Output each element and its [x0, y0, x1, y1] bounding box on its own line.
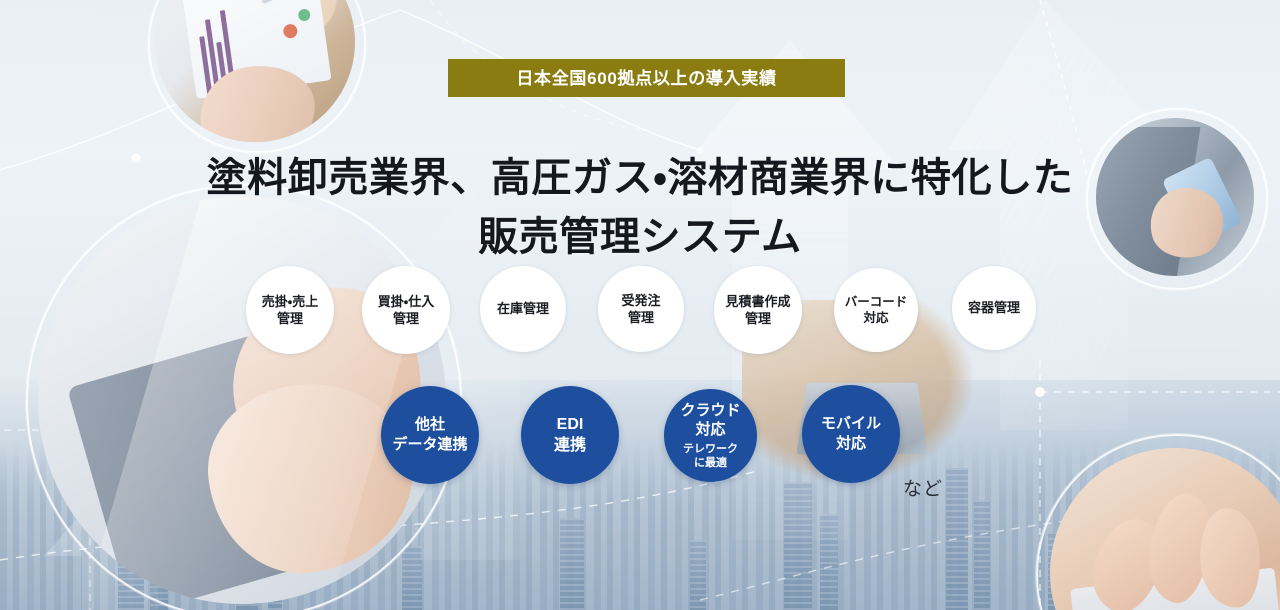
feature-label-line1: バーコード — [845, 294, 908, 311]
hero-banner: 日本全国600拠点以上の導入実績 塗料卸売業界、高圧ガス・溶材商業界に特化した … — [0, 0, 1280, 610]
feature-circle-accounts-payable-purchasing: 買掛・仕入 管理 — [362, 266, 450, 354]
achievement-badge: 日本全国600拠点以上の導入実績 — [448, 59, 845, 97]
feature-label-line1: 売掛・売上 — [262, 293, 318, 310]
headline-line-2: 販売管理システム — [0, 208, 1280, 267]
achievement-badge-label: 日本全国600拠点以上の導入実績 — [516, 70, 776, 87]
feature-label-line2: 管理 — [745, 310, 771, 327]
feature-label-line2: 管理 — [628, 309, 654, 326]
feature-circle-quotation: 見積書作成 管理 — [714, 266, 802, 354]
feature-label-line2: 連携 — [554, 435, 586, 456]
feature-label-line1: 他社 — [415, 415, 445, 435]
feature-circle-barcode: バーコード 対応 — [834, 268, 918, 352]
feature-label-line2: 対応 — [695, 420, 725, 440]
feature-label-line1: 容器管理 — [968, 299, 1020, 316]
feature-label-line1: 見積書作成 — [725, 293, 790, 310]
feature-circle-order-management: 受発注 管理 — [598, 266, 684, 352]
feature-circle-mobile-ready: モバイル 対応 — [802, 385, 900, 483]
feature-label-line1: 在庫管理 — [497, 300, 549, 317]
page-title: 塗料卸売業界、高圧ガス・溶材商業界に特化した 販売管理システム — [0, 149, 1280, 267]
feature-label-line2: 管理 — [277, 310, 303, 327]
feature-circle-external-data-link: 他社 データ連携 — [381, 386, 479, 484]
feature-label-line2: 対応 — [836, 434, 866, 454]
banner-content: 日本全国600拠点以上の導入実績 塗料卸売業界、高圧ガス・溶材商業界に特化した … — [0, 0, 1280, 610]
feature-circle-edi-link: EDI 連携 — [521, 386, 619, 484]
feature-label-line2: 管理 — [393, 310, 419, 327]
feature-circle-cloud-ready: クラウド 対応 テレワーク に最適 — [664, 389, 757, 482]
feature-sublabel-line2: に最適 — [694, 456, 727, 470]
feature-circle-container: 容器管理 — [952, 266, 1036, 350]
feature-circle-accounts-receivable-sales: 売掛・売上 管理 — [246, 266, 334, 354]
feature-label-line1: クラウド — [680, 401, 740, 421]
feature-label-line1: モバイル — [821, 414, 881, 434]
etc-label: など — [903, 474, 943, 501]
feature-label-line1: 受発注 — [621, 292, 660, 309]
feature-circle-inventory: 在庫管理 — [480, 266, 566, 352]
feature-label-line2: 対応 — [863, 310, 888, 327]
feature-sublabel-line1: テレワーク — [683, 442, 738, 456]
feature-label-line1: 買掛・仕入 — [378, 293, 434, 310]
feature-label-line2: データ連携 — [392, 435, 467, 455]
feature-label-line1: EDI — [557, 414, 584, 435]
headline-line-1: 塗料卸売業界、高圧ガス・溶材商業界に特化した — [0, 149, 1280, 208]
